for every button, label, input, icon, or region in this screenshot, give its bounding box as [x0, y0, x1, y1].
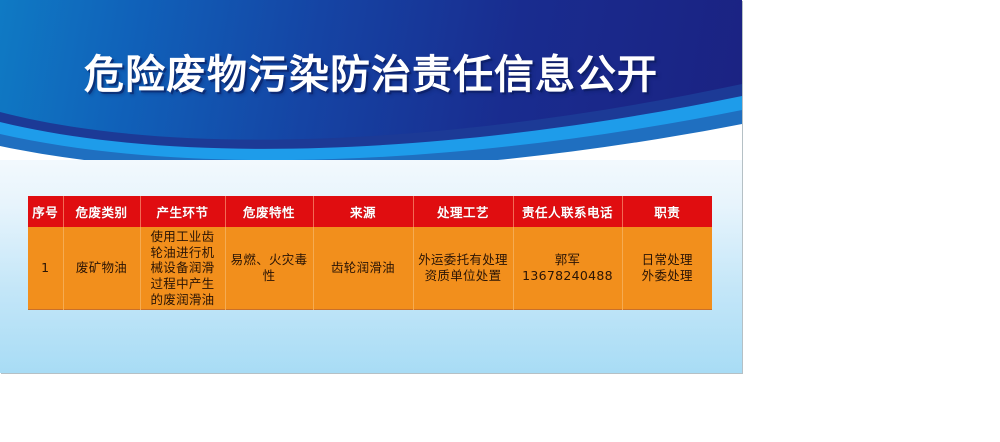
information-disclosure-poster: 危险废物污染防治责任信息公开 序号 危废类别 产生环节 危废特性 来源 — [0, 0, 742, 373]
cell-responsible-contact: 郭军 13678240488 — [513, 227, 622, 310]
column-header-treatment: 处理工艺 — [413, 196, 513, 227]
column-header-generation-stage: 产生环节 — [140, 196, 225, 227]
column-header-contact-phone: 责任人联系电话 — [513, 196, 622, 227]
column-header-duty: 职责 — [622, 196, 712, 227]
column-header-source: 来源 — [313, 196, 413, 227]
table-row: 1 废矿物油 使用工业齿轮油进行机械设备润滑过程中产生的废润滑油 易燃、火灾毒性… — [28, 227, 712, 310]
table-header-row: 序号 危废类别 产生环节 危废特性 来源 处理工艺 责任人联系电话 职责 — [28, 196, 712, 227]
column-header-hazard-property: 危废特性 — [225, 196, 313, 227]
responsible-person-name: 郭军 — [518, 252, 618, 268]
hazardous-waste-table: 序号 危废类别 产生环节 危废特性 来源 处理工艺 责任人联系电话 职责 1 废… — [28, 196, 712, 310]
page-title: 危险废物污染防治责任信息公开 — [0, 42, 742, 100]
column-header-index: 序号 — [28, 196, 63, 227]
duty-line-outsourced: 外委处理 — [627, 268, 709, 284]
responsible-person-phone: 13678240488 — [518, 268, 618, 284]
column-header-category: 危废类别 — [63, 196, 140, 227]
cell-treatment-process: 外运委托有处理资质单位处置 — [413, 227, 513, 310]
poster-banner: 危险废物污染防治责任信息公开 — [0, 0, 742, 160]
cell-generation-stage: 使用工业齿轮油进行机械设备润滑过程中产生的废润滑油 — [140, 227, 225, 310]
cell-category: 废矿物油 — [63, 227, 140, 310]
cell-duty: 日常处理 外委处理 — [622, 227, 712, 310]
cell-hazard-property: 易燃、火灾毒性 — [225, 227, 313, 310]
cell-source: 齿轮润滑油 — [313, 227, 413, 310]
hazardous-waste-table-container: 序号 危废类别 产生环节 危废特性 来源 处理工艺 责任人联系电话 职责 1 废… — [28, 196, 712, 310]
duty-line-daily: 日常处理 — [627, 252, 709, 268]
cell-index: 1 — [28, 227, 63, 310]
